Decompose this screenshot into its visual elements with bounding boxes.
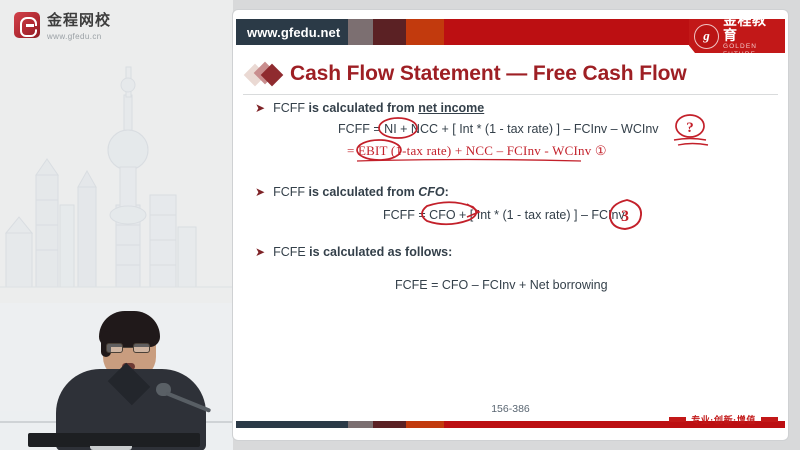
laptop-icon [28,433,200,447]
brand-logo: 金程网校 www.gfedu.cn [14,12,111,41]
bullet-line-3: ➤ FCFE is calculated as follows: [255,244,778,260]
heading-plain-1: FCFF [273,101,308,115]
bullet-line-2: ➤ FCFF is calculated from CFO: [255,184,778,200]
header-band-orange [406,19,444,45]
content-block-fcff-cfo: ➤ FCFF is calculated from CFO: FCFF = CF… [255,184,778,224]
presenter-glasses-right [133,343,150,353]
bullet-arrow-icon: ➤ [255,245,265,259]
footer-band-orange [406,421,444,428]
header-url-text: www.gfedu.net [236,25,340,40]
heading-tail-2: : [445,185,449,199]
bullet-arrow-icon: ➤ [255,101,265,115]
formula-text-3: FCFE = CFO – FCInv + Net borrowing [395,278,608,292]
presenter-hair [99,311,160,347]
screen-root: 金程网校 www.gfedu.cn [0,0,800,450]
formula-fcfe: FCFE = CFO – FCInv + Net borrowing [395,276,778,294]
tagline-bar-right [761,417,778,422]
brand-text-group: 金程网校 www.gfedu.cn [47,12,111,41]
header-url-segment: www.gfedu.net [236,19,348,45]
footer-band-maroon [373,421,406,428]
diamond-bullet-icon [247,63,281,85]
footer-tagline: 专业·创新·增值 [691,413,756,426]
presenter-glasses-left [106,343,123,353]
bullet-heading-1: FCFF is calculated from net income [273,100,484,116]
slide-body: ➤ FCFF is calculated from net income FCF… [233,96,788,404]
svg-text:?: ? [686,120,694,136]
footer-band-gray [348,421,373,428]
formula-text-2: FCFF = CFO + [ Int * (1 - tax rate) ] – … [383,208,625,222]
shanghai-skyline-watermark [0,55,233,305]
bullet-line-1: ➤ FCFF is calculated from net income [255,100,778,116]
heading-italic-2: CFO [418,185,444,199]
heading-bold-2: is calculated from [308,185,418,199]
gfedu-logo-icon [14,12,40,38]
header-band-maroon [373,19,406,45]
tagline-bar-left [669,417,686,422]
ink-formula-ebit: = EBIT (1-tax rate) + NCC – FCInv - WCIn… [347,143,607,159]
slide-title-row: Cash Flow Statement — Free Cash Flow [247,58,778,90]
formula-fcff-ni: FCFF = NI + NCC + [ Int * (1 - tax rate)… [338,120,778,138]
heading-bold-1: is calculated from [308,101,418,115]
presenter-video[interactable] [0,303,233,450]
bullet-heading-2: FCFF is calculated from CFO: [273,184,449,200]
heading-underline-1: net income [418,101,484,115]
brand-url: www.gfedu.cn [47,32,111,41]
page-title: Cash Flow Statement — Free Cash Flow [290,62,687,86]
content-block-fcfe: ➤ FCFE is calculated as follows: FCFE = … [255,244,778,294]
bullet-arrow-icon: ➤ [255,185,265,199]
corner-logo-en: GOLDEN FUTURE [723,43,780,59]
title-divider [243,94,778,95]
golden-future-seal-icon [694,24,719,49]
corner-logo: 金程教育 GOLDEN FUTURE [689,19,785,53]
formula-text-1: FCFF = NI + NCC + [ Int * (1 - tax rate)… [338,122,659,136]
ink-formula-row: = EBIT (1-tax rate) + NCC – FCInv - WCIn… [255,138,778,162]
left-brand-panel: 金程网校 www.gfedu.cn [0,0,233,450]
bullet-heading-3: FCFE is calculated as follows: [273,244,452,260]
slide-panel: www.gfedu.net 金程教育 GOLDEN FUTURE Cash Fl… [233,10,788,440]
footer-band-navy [236,421,348,428]
heading-plain-3: FCFE [273,245,309,259]
corner-logo-text-group: 金程教育 GOLDEN FUTURE [723,13,780,59]
footer-tagline-group: 专业·创新·增值 [669,413,778,426]
corner-logo-cn: 金程教育 [723,13,780,43]
heading-plain-2: FCFF [273,185,308,199]
header-band-gray [348,19,373,45]
formula-fcff-cfo: FCFF = CFO + [ Int * (1 - tax rate) ] – … [383,206,778,224]
brand-name-cn: 金程网校 [47,13,111,29]
heading-bold-3: is calculated as follows: [309,245,452,259]
presenter-glasses-bridge [123,347,133,348]
content-block-fcff-net-income: ➤ FCFF is calculated from net income FCF… [255,100,778,162]
